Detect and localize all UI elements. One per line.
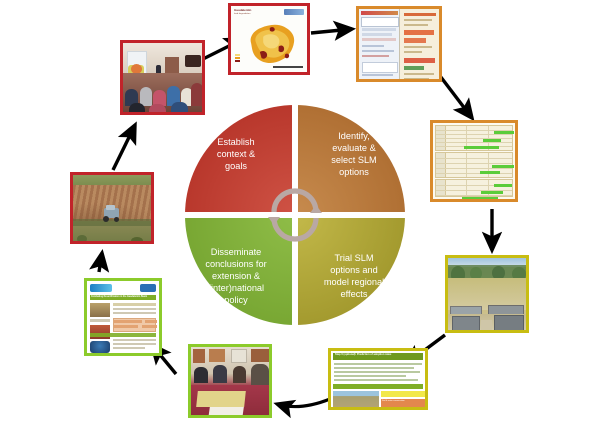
arrow-factsheet-to-ploughing bbox=[99, 253, 102, 272]
map-guadalentin-study-area[interactable]: Guadalentin land degradation bbox=[228, 3, 310, 75]
cycle-rotation-arrows bbox=[260, 180, 330, 250]
map-subtitle: land degradation bbox=[234, 13, 250, 16]
quadrant-line: goals bbox=[217, 160, 255, 172]
cycle-wheel: Establish context & goals Identify, eval… bbox=[185, 105, 405, 325]
photo-stakeholder-meeting[interactable] bbox=[120, 40, 205, 115]
quadrant-line: context & bbox=[217, 148, 255, 160]
document-modelling-report[interactable]: Step 6 (optional): Prediction of adoptio… bbox=[328, 348, 428, 410]
map-title: Guadalentin bbox=[234, 9, 251, 12]
report-heading: Step 6 (optional): Prediction of adoptio… bbox=[335, 354, 391, 357]
quadrant-line: policy bbox=[205, 294, 266, 306]
quadrant-line: model regional bbox=[324, 276, 384, 288]
factsheet-heading: Combating Desertification in the Guadale… bbox=[91, 296, 147, 299]
quadrant-line: Establish bbox=[217, 136, 255, 148]
quadrant-line: select SLM bbox=[331, 154, 376, 166]
diagram-canvas: Establish context & goals Identify, eval… bbox=[0, 0, 600, 425]
quadrant-line: Disseminate bbox=[205, 246, 266, 258]
arrow-map-to-scoring bbox=[311, 29, 352, 33]
document-policy-factsheet[interactable]: Combating Desertification in the Guadale… bbox=[84, 278, 162, 356]
document-option-scoring-sheets[interactable] bbox=[356, 6, 442, 82]
quadrant-line: Identify, bbox=[331, 130, 376, 142]
photo-field-trial-site[interactable] bbox=[445, 255, 529, 333]
quadrant-line: extension & bbox=[205, 270, 266, 282]
quadrant-line: options bbox=[331, 166, 376, 178]
photo-dissemination-workshop[interactable] bbox=[188, 344, 272, 418]
quadrant-line: evaluate & bbox=[331, 142, 376, 154]
quadrant-line: options and bbox=[324, 264, 384, 276]
chart-option-ranking-tables[interactable] bbox=[430, 120, 518, 202]
arrow-scoring-to-ranking bbox=[437, 72, 472, 118]
arrowhead-left bbox=[268, 217, 280, 225]
quadrant-line: conclusions for bbox=[205, 258, 266, 270]
quadrant-line: Trial SLM bbox=[324, 252, 384, 264]
quadrant-line: effects bbox=[324, 288, 384, 300]
arrowhead-right bbox=[310, 205, 322, 213]
photo-ploughing-field[interactable] bbox=[70, 172, 154, 244]
arrow-report-to-workshop bbox=[277, 399, 330, 407]
arrow-ploughing-to-meeting bbox=[113, 125, 135, 170]
quadrant-line: (inter)national bbox=[205, 282, 266, 294]
